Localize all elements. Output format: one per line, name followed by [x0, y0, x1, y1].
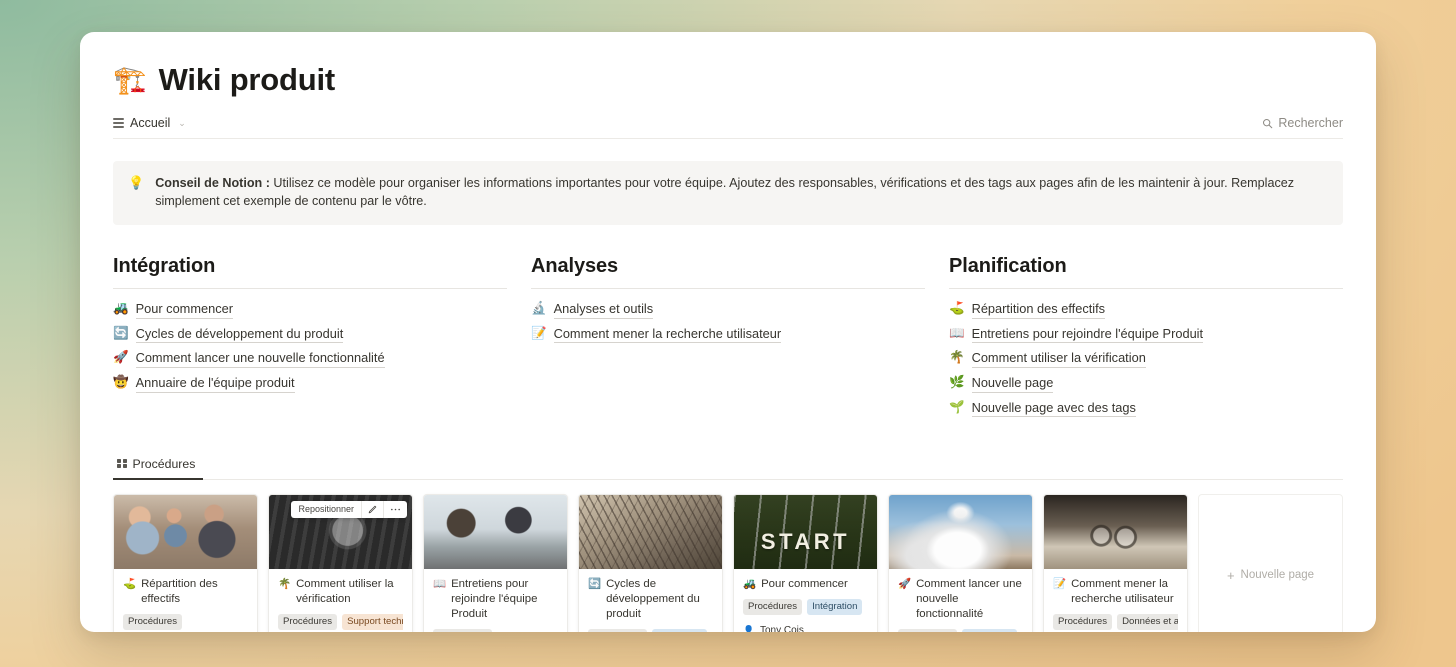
card-title-row: ⛳ Répartition des effectifs	[123, 577, 248, 607]
card-title-row: 🚀 Comment lancer une nouvelle fonctionna…	[898, 577, 1023, 622]
new-page-label: Nouvelle page	[1241, 569, 1315, 581]
card-body: 📖 Entretiens pour rejoindre l'équipe Pro…	[424, 569, 567, 632]
construction-crane-icon: 🏗️	[113, 67, 147, 94]
card-title: Comment lancer une nouvelle fonctionnali…	[916, 577, 1023, 622]
tag-chip[interactable]: Procédures	[588, 629, 647, 632]
card-emoji-icon: 🔄	[588, 577, 601, 592]
callout-bold-prefix: Conseil de Notion :	[155, 176, 270, 190]
callout-text: Conseil de Notion : Utilisez ce modèle p…	[155, 174, 1327, 211]
divider	[113, 288, 507, 289]
page-link[interactable]: 🤠Annuaire de l'équipe produit	[113, 371, 507, 396]
callout-body: Utilisez ce modèle pour organiser les in…	[155, 176, 1294, 208]
page-link-label: Comment utiliser la vérification	[972, 350, 1146, 368]
page-link[interactable]: 🚀Comment lancer une nouvelle fonctionnal…	[113, 347, 507, 372]
card-tags: Procédures intégration	[588, 629, 713, 632]
more-horizontal-icon	[390, 505, 401, 514]
card-title-row: 🌴 Comment utiliser la vérification	[278, 577, 403, 607]
card-title: Comment utiliser la vérification	[296, 577, 403, 607]
page-link[interactable]: ⛳Répartition des effectifs	[949, 298, 1343, 323]
page-link[interactable]: 🔄Cycles de développement du produit	[113, 322, 507, 347]
gallery-card[interactable]: 📝 Comment mener la recherche utilisateur…	[1043, 494, 1188, 632]
card-tags: Procédures Intégration	[898, 629, 1023, 632]
card-title: Comment mener la recherche utilisateur	[1071, 577, 1178, 607]
card-tags: Procédures Support technique	[278, 614, 403, 630]
page-title: Wiki produit	[159, 62, 335, 98]
column-heading: Analyses	[531, 255, 925, 278]
gallery-grid-icon	[117, 459, 127, 469]
page-link[interactable]: 🌱Nouvelle page avec des tags	[949, 396, 1343, 421]
page-link-label: Comment lancer une nouvelle fonctionnali…	[136, 350, 385, 368]
page-emoji-icon: 🌿	[949, 375, 965, 391]
lightbulb-icon: 💡	[128, 174, 144, 211]
gallery-card[interactable]: ⛳ Répartition des effectifs Procédures 👤…	[113, 494, 258, 632]
page-inner: 🏗️ Wiki produit Accueil ⌄ Rechercher 💡	[80, 32, 1376, 632]
database-tabs: Procédures	[113, 457, 1343, 480]
tag-chip[interactable]: Intégration	[962, 629, 1017, 632]
card-emoji-icon: 🚜	[743, 577, 756, 592]
gallery-card[interactable]: 📖 Entretiens pour rejoindre l'équipe Pro…	[423, 494, 568, 632]
card-cover-image	[114, 495, 257, 569]
page-emoji-icon: 🔬	[531, 301, 547, 317]
search-button[interactable]: Rechercher	[1262, 116, 1343, 130]
page-emoji-icon: 📖	[949, 326, 965, 342]
card-cover-image: START	[734, 495, 877, 569]
tag-chip[interactable]: Procédures	[898, 629, 957, 632]
card-title: Répartition des effectifs	[141, 577, 248, 607]
card-tags: Procédures	[123, 614, 248, 630]
edit-cover-button[interactable]	[362, 501, 384, 518]
pencil-icon	[368, 505, 377, 514]
card-title: Pour commencer	[761, 577, 848, 592]
plus-icon: +	[1227, 569, 1235, 582]
cover-text: START	[734, 529, 877, 555]
tag-chip[interactable]: Support technique	[342, 614, 403, 630]
card-tags: Procédures Intégration	[743, 599, 868, 615]
card-cover-image	[424, 495, 567, 569]
divider	[949, 288, 1343, 289]
toolbar: Accueil ⌄ Rechercher	[113, 116, 1343, 139]
page-link[interactable]: 🔬Analyses et outils	[531, 298, 925, 323]
card-body: 🚜 Pour commencer Procédures Intégration …	[734, 569, 877, 632]
tag-chip[interactable]: Procédures	[1053, 614, 1112, 630]
card-person: 👤 Tony Cois	[743, 624, 868, 632]
card-tags: Procédures	[433, 629, 558, 632]
page-link-label: Analyses et outils	[554, 301, 654, 319]
page-emoji-icon: ⛳	[949, 301, 965, 317]
card-title-row: 🚜 Pour commencer	[743, 577, 868, 592]
card-title-row: 📖 Entretiens pour rejoindre l'équipe Pro…	[433, 577, 558, 622]
column-analyses: Analyses 🔬Analyses et outils 📝Comment me…	[531, 255, 925, 421]
page-link-label: Répartition des effectifs	[972, 301, 1106, 319]
gallery-grid: ⛳ Répartition des effectifs Procédures 👤…	[113, 494, 1343, 632]
card-emoji-icon: 📝	[1053, 577, 1066, 592]
page-emoji-icon: 🤠	[113, 375, 129, 391]
card-title-row: 📝 Comment mener la recherche utilisateur	[1053, 577, 1178, 607]
page-link-label: Nouvelle page	[972, 375, 1054, 393]
card-title-row: 🔄 Cycles de développement du produit	[588, 577, 713, 622]
card-body: 🔄 Cycles de développement du produit Pro…	[579, 569, 722, 632]
gallery-card[interactable]: 🔄 Cycles de développement du produit Pro…	[578, 494, 723, 632]
page-link[interactable]: 🚜Pour commencer	[113, 298, 507, 323]
tag-chip[interactable]: Intégration	[807, 599, 862, 615]
link-columns: Intégration 🚜Pour commencer 🔄Cycles de d…	[113, 255, 1343, 421]
card-emoji-icon: ⛳	[123, 577, 136, 592]
page-emoji-icon: 🚀	[113, 350, 129, 366]
list-icon	[113, 118, 124, 127]
notion-page-window: 🏗️ Wiki produit Accueil ⌄ Rechercher 💡	[80, 32, 1376, 632]
card-body: ⛳ Répartition des effectifs Procédures 👤…	[114, 569, 257, 632]
page-emoji-icon: 🌱	[949, 400, 965, 416]
page-link-label: Nouvelle page avec des tags	[972, 400, 1136, 418]
card-emoji-icon: 📖	[433, 577, 446, 592]
gallery-card[interactable]: 🚀 Comment lancer une nouvelle fonctionna…	[888, 494, 1033, 632]
tag-chip[interactable]: intégration	[652, 629, 707, 632]
more-options-button[interactable]	[384, 501, 407, 518]
card-body: 🚀 Comment lancer une nouvelle fonctionna…	[889, 569, 1032, 632]
breadcrumb-label: Accueil	[130, 116, 170, 130]
card-body: 📝 Comment mener la recherche utilisateur…	[1044, 569, 1187, 632]
page-link-label: Comment mener la recherche utilisateur	[554, 326, 782, 344]
tag-chip[interactable]: Procédures	[278, 614, 337, 630]
page-link[interactable]: 🌴Comment utiliser la vérification	[949, 347, 1343, 372]
card-emoji-icon: 🌴	[278, 577, 291, 592]
gallery-card[interactable]: Repositionner 🌴	[268, 494, 413, 632]
search-icon	[1262, 118, 1273, 129]
page-link[interactable]: 📖Entretiens pour rejoindre l'équipe Prod…	[949, 322, 1343, 347]
tab-label: Procédures	[133, 457, 196, 471]
search-label: Rechercher	[1278, 116, 1343, 130]
card-tags: Procédures Données et analyse	[1053, 614, 1178, 630]
card-title: Cycles de développement du produit	[606, 577, 713, 622]
new-page-card[interactable]: + Nouvelle page	[1198, 494, 1343, 632]
page-link-label: Cycles de développement du produit	[136, 326, 344, 344]
avatar: 👤	[743, 624, 755, 632]
card-cover-image	[579, 495, 722, 569]
page-emoji-icon: 🚜	[113, 301, 129, 317]
divider	[531, 288, 925, 289]
page-link[interactable]: 📝Comment mener la recherche utilisateur	[531, 322, 925, 347]
cover-hover-toolbar: Repositionner	[291, 501, 407, 518]
tag-chip[interactable]: Procédures	[743, 599, 802, 615]
card-cover-image	[1044, 495, 1187, 569]
gallery-card[interactable]: START 🚜 Pour commencer Procédures Intégr…	[733, 494, 878, 632]
reposition-button[interactable]: Repositionner	[291, 501, 362, 518]
tag-chip[interactable]: Procédures	[123, 614, 182, 630]
page-emoji-icon: 📝	[531, 326, 547, 342]
column-planification: Planification ⛳Répartition des effectifs…	[949, 255, 1343, 421]
page-emoji-icon: 🌴	[949, 350, 965, 366]
column-heading: Planification	[949, 255, 1343, 278]
card-emoji-icon: 🚀	[898, 577, 911, 592]
column-integration: Intégration 🚜Pour commencer 🔄Cycles de d…	[113, 255, 507, 421]
tab-procedures[interactable]: Procédures	[113, 457, 203, 480]
card-body: 🌴 Comment utiliser la vérification Procé…	[269, 569, 412, 632]
page-link-label: Entretiens pour rejoindre l'équipe Produ…	[972, 326, 1204, 344]
title-row: 🏗️ Wiki produit	[113, 62, 1343, 98]
tip-callout: 💡 Conseil de Notion : Utilisez ce modèle…	[113, 161, 1343, 225]
breadcrumb[interactable]: Accueil ⌄	[113, 116, 186, 130]
page-link-label: Annuaire de l'équipe produit	[136, 375, 295, 393]
card-title: Entretiens pour rejoindre l'équipe Produ…	[451, 577, 558, 622]
page-link-label: Pour commencer	[136, 301, 233, 319]
page-emoji-icon: 🔄	[113, 326, 129, 342]
chevron-down-icon[interactable]: ⌄	[178, 118, 186, 129]
card-cover-image	[889, 495, 1032, 569]
tag-chip[interactable]: Procédures	[433, 629, 492, 632]
column-heading: Intégration	[113, 255, 507, 278]
page-link[interactable]: 🌿Nouvelle page	[949, 371, 1343, 396]
person-name: Tony Cois	[760, 625, 804, 632]
tag-chip[interactable]: Données et analyse	[1117, 614, 1178, 630]
